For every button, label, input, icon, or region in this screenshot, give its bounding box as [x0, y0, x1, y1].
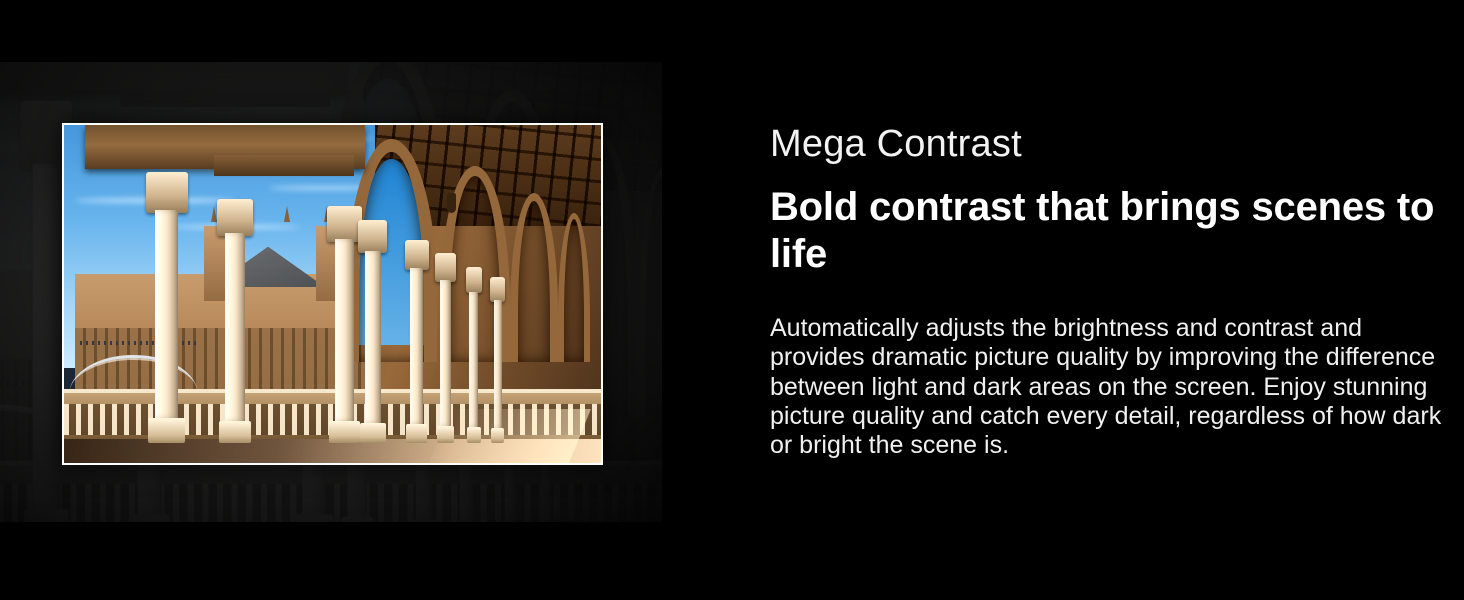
column-base — [467, 427, 481, 443]
column-shaft — [440, 280, 451, 426]
column-base — [437, 426, 455, 443]
column-shaft — [469, 292, 478, 427]
column-base — [411, 520, 436, 522]
scene-bright — [64, 125, 601, 463]
column-shaft — [410, 268, 423, 424]
column-base — [406, 424, 427, 442]
marble-column — [365, 220, 381, 443]
marble-column — [440, 253, 451, 442]
column-capital — [435, 253, 455, 281]
column-shaft — [225, 233, 245, 420]
column-base — [24, 510, 69, 522]
column-capital — [327, 206, 362, 241]
sunlight-patch — [442, 494, 662, 522]
marble-column — [155, 172, 178, 442]
balustrade — [0, 460, 662, 522]
column-shaft — [494, 300, 502, 428]
contrast-demo-visual — [0, 62, 662, 522]
column-capital — [466, 267, 483, 293]
column-capital — [490, 277, 505, 302]
cloud-streak — [0, 62, 266, 66]
entablature — [214, 155, 354, 175]
column-capital — [146, 172, 188, 213]
entablature — [0, 62, 347, 96]
marble-column — [494, 277, 502, 443]
baluster-row — [0, 484, 662, 522]
marble-column — [225, 199, 245, 442]
column-base — [491, 428, 504, 443]
column-capital — [405, 240, 429, 270]
cloud-streak — [8, 87, 283, 93]
feature-headline: Bold contrast that brings scenes to life — [770, 184, 1440, 278]
column-base — [130, 514, 169, 522]
plaza-visitors — [80, 341, 198, 345]
palace-tower — [204, 226, 225, 300]
column-shaft — [32, 164, 60, 510]
column-shaft — [365, 251, 381, 423]
column-shaft — [335, 239, 354, 421]
entablature — [121, 73, 331, 107]
column-base — [296, 515, 333, 522]
feature-banner: Mega Contrast Bold contrast that brings … — [0, 0, 1464, 600]
column-base — [219, 421, 251, 443]
feature-body: Automatically adjusts the brightness and… — [770, 314, 1460, 460]
column-base — [360, 423, 386, 443]
marble-column — [410, 240, 423, 443]
wall-lamp — [447, 193, 456, 213]
brick-arch — [638, 169, 662, 416]
bright-inset-photo — [64, 125, 601, 463]
marble-column — [335, 206, 354, 443]
palace-spire — [211, 206, 217, 222]
column-capital — [217, 199, 254, 236]
marble-column — [469, 267, 478, 443]
column-capital — [358, 220, 387, 253]
palace-spire — [284, 206, 290, 222]
column-base — [148, 418, 185, 442]
marble-column — [32, 101, 60, 522]
contrast-inset-frame — [62, 123, 603, 465]
feature-eyebrow: Mega Contrast — [770, 124, 1022, 166]
column-base — [341, 517, 372, 522]
copy-block: Mega Contrast Bold contrast that brings … — [770, 0, 1460, 600]
column-base — [329, 421, 359, 442]
column-shaft — [155, 210, 178, 418]
